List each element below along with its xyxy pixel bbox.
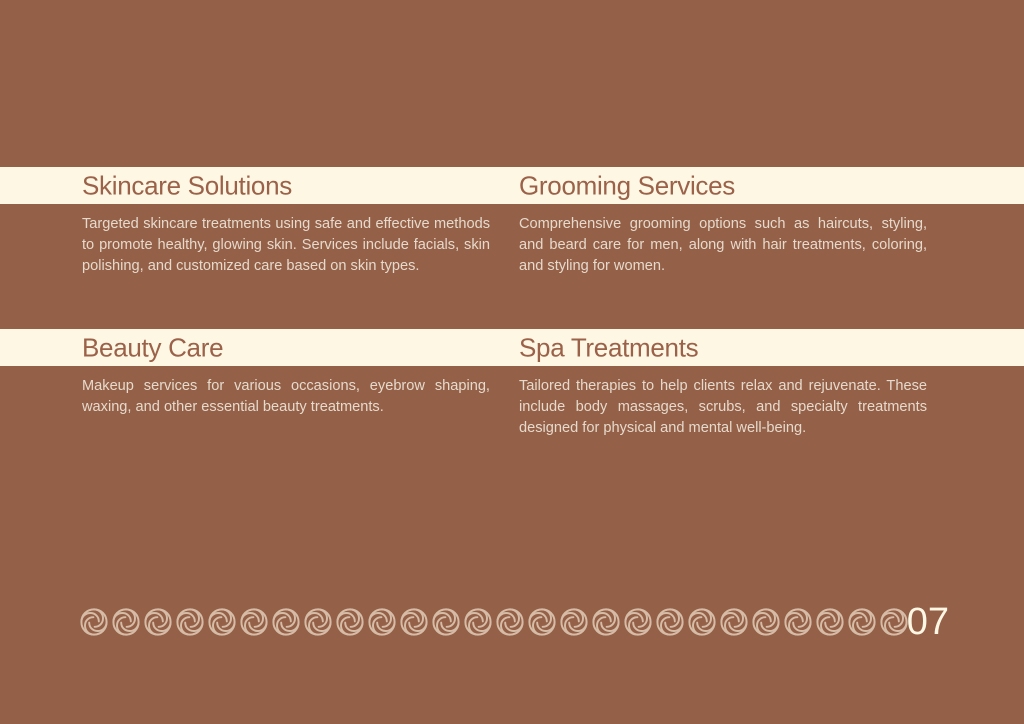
quatrefoil-rosette-icon — [399, 606, 429, 638]
quatrefoil-rosette-icon — [207, 606, 237, 638]
quatrefoil-rosette-icon — [719, 606, 749, 638]
quatrefoil-rosette-icon — [431, 606, 461, 638]
section-body-skincare-solutions: Targeted skincare treatments using safe … — [82, 214, 490, 277]
heading-band-row-2-inner: Beauty Care Spa Treatments — [0, 329, 1024, 366]
heading-band-row-1: Skincare Solutions Grooming Services — [0, 167, 1024, 204]
section-title-skincare-solutions: Skincare Solutions — [82, 172, 292, 198]
quatrefoil-rosette-icon — [623, 606, 653, 638]
quatrefoil-rosette-icon — [367, 606, 397, 638]
section-body-spa-treatments: Tailored therapies to help clients relax… — [519, 376, 927, 439]
quatrefoil-rosette-icon — [591, 606, 621, 638]
quatrefoil-rosette-icon — [527, 606, 557, 638]
quatrefoil-rosette-icon — [847, 606, 877, 638]
page-footer: 07 — [0, 596, 1024, 648]
quatrefoil-rosette-icon — [751, 606, 781, 638]
quatrefoil-rosette-icon — [175, 606, 205, 638]
quatrefoil-rosette-icon — [335, 606, 365, 638]
quatrefoil-rosette-icon — [495, 606, 525, 638]
quatrefoil-rosette-icon — [463, 606, 493, 638]
heading-band-row-2: Beauty Care Spa Treatments — [0, 329, 1024, 366]
ornament-divider-strip — [79, 596, 909, 648]
quatrefoil-rosette-icon — [815, 606, 845, 638]
page-number: 07 — [907, 603, 949, 641]
section-title-spa-treatments: Spa Treatments — [519, 334, 698, 360]
quatrefoil-rosette-icon — [879, 606, 909, 638]
page-canvas: Skincare Solutions Grooming Services Tar… — [0, 0, 1024, 724]
section-title-grooming-services: Grooming Services — [519, 172, 735, 198]
quatrefoil-rosette-icon — [559, 606, 589, 638]
section-body-beauty-care: Makeup services for various occasions, e… — [82, 376, 490, 418]
quatrefoil-rosette-icon — [143, 606, 173, 638]
quatrefoil-rosette-icon — [303, 606, 333, 638]
quatrefoil-rosette-icon — [239, 606, 269, 638]
section-title-beauty-care: Beauty Care — [82, 334, 223, 360]
quatrefoil-rosette-icon — [271, 606, 301, 638]
quatrefoil-rosette-icon — [79, 606, 109, 638]
quatrefoil-rosette-icon — [783, 606, 813, 638]
quatrefoil-rosette-icon — [687, 606, 717, 638]
quatrefoil-rosette-icon — [111, 606, 141, 638]
quatrefoil-rosette-icon — [655, 606, 685, 638]
heading-band-row-1-inner: Skincare Solutions Grooming Services — [0, 167, 1024, 204]
section-body-grooming-services: Comprehensive grooming options such as h… — [519, 214, 927, 277]
